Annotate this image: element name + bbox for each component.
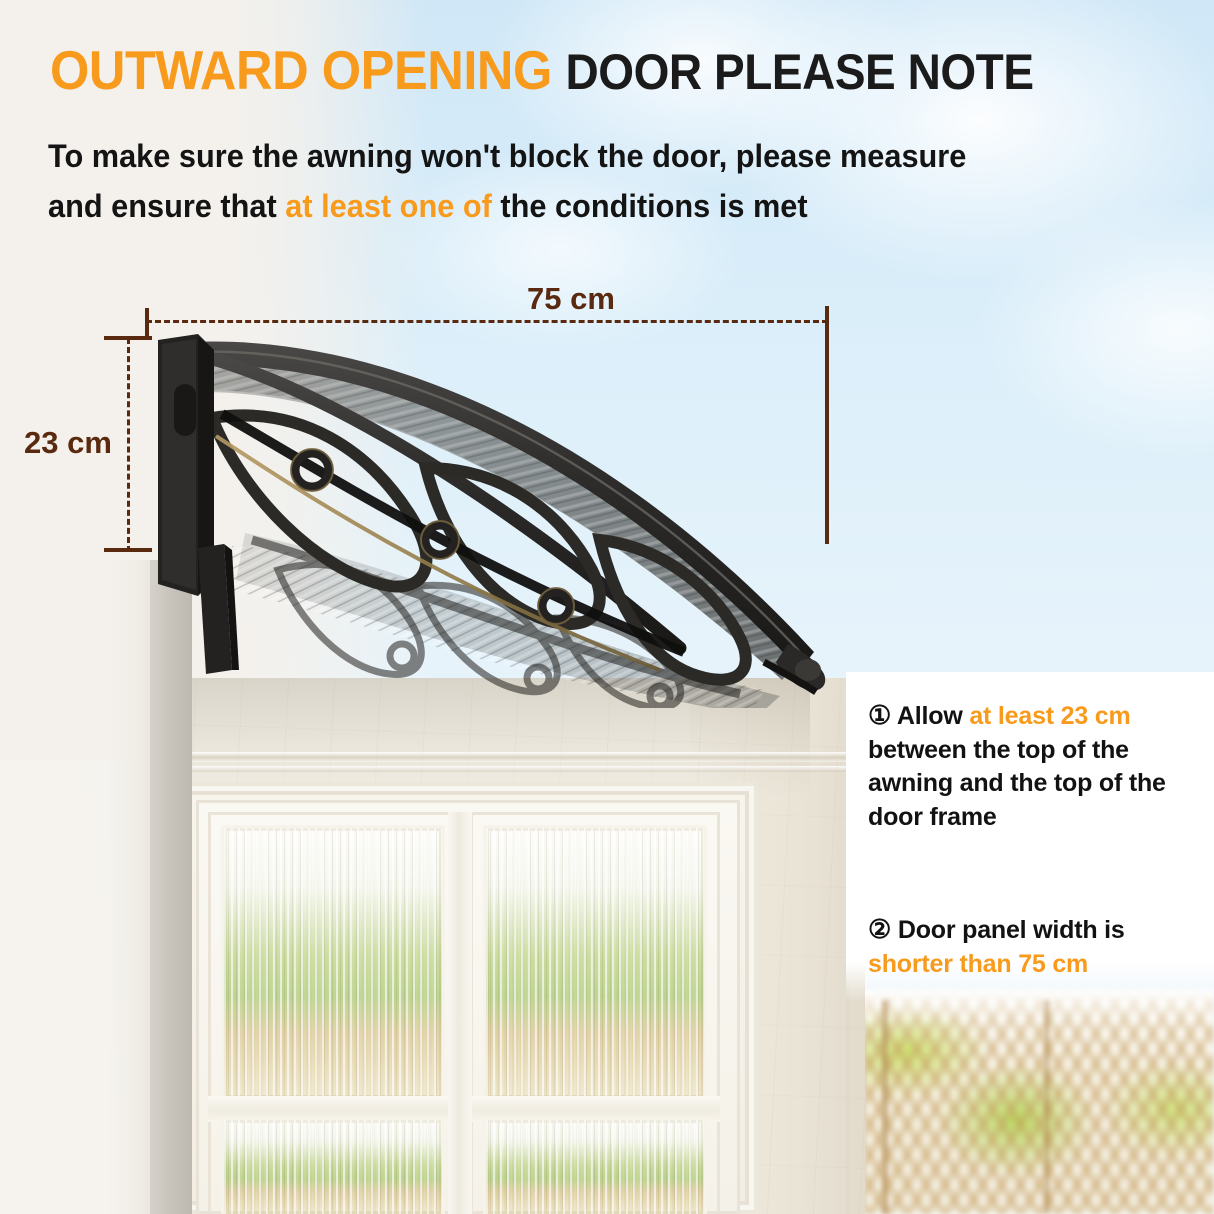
condition-1-mid xyxy=(1054,702,1061,730)
page-title: OUTWARD OPENING DOOR PLEASE NOTE xyxy=(50,42,1099,100)
door-lintel-moulding xyxy=(150,752,865,762)
garden-fence-posts xyxy=(846,1000,1214,1214)
height-dimension-line xyxy=(127,338,130,552)
door-lintel-moulding-secondary xyxy=(150,766,865,772)
height-dimension-label: 23 cm xyxy=(24,425,112,461)
condition-item-2: ② Door panel width is shorter than 75 cm xyxy=(868,912,1214,981)
door-glass-pane-upper-left xyxy=(224,828,442,1098)
condition-1-highlight-measure: 23 cm xyxy=(1061,702,1131,730)
door-glass-pane-upper-right xyxy=(486,828,704,1098)
subheading: To make sure the awning won't block the … xyxy=(48,132,1066,231)
condition-2-highlight: shorter than 75 cm xyxy=(868,950,1088,978)
condition-1-suffix: between the top of the awning and the to… xyxy=(868,736,1166,831)
subheading-line1: To make sure the awning won't block the … xyxy=(48,138,966,174)
subheading-highlight: at least one of xyxy=(285,188,492,224)
headline-black-text: DOOR PLEASE NOTE xyxy=(566,44,1034,100)
condition-item-1: ① Allow at least 23 cm between the top o… xyxy=(868,698,1214,834)
condition-1-highlight-atleast: at least xyxy=(969,702,1054,730)
subheading-line2-suffix: the conditions is met xyxy=(492,188,808,224)
subheading-line2-prefix: and ensure that xyxy=(48,188,285,224)
condition-2-prefix: Door panel width is xyxy=(891,916,1125,944)
condition-2-number: ② xyxy=(868,914,891,944)
condition-1-prefix: Allow xyxy=(891,702,969,730)
width-dimension-tick-right xyxy=(825,306,829,544)
headline-orange-text: OUTWARD OPENING xyxy=(50,39,552,101)
condition-1-number: ① xyxy=(868,700,891,730)
door-glass-pane-lower-right xyxy=(486,1120,704,1214)
product-infographic: OUTWARD OPENING DOOR PLEASE NOTE To make… xyxy=(0,0,1214,1214)
width-dimension-line xyxy=(146,320,828,323)
door-centre-mullion xyxy=(448,812,472,1214)
door-glass-pane-lower-left xyxy=(224,1120,442,1214)
height-dimension-tick-bottom xyxy=(104,548,152,552)
door-awning-canopy xyxy=(140,318,840,708)
width-dimension-label: 75 cm xyxy=(517,281,625,317)
